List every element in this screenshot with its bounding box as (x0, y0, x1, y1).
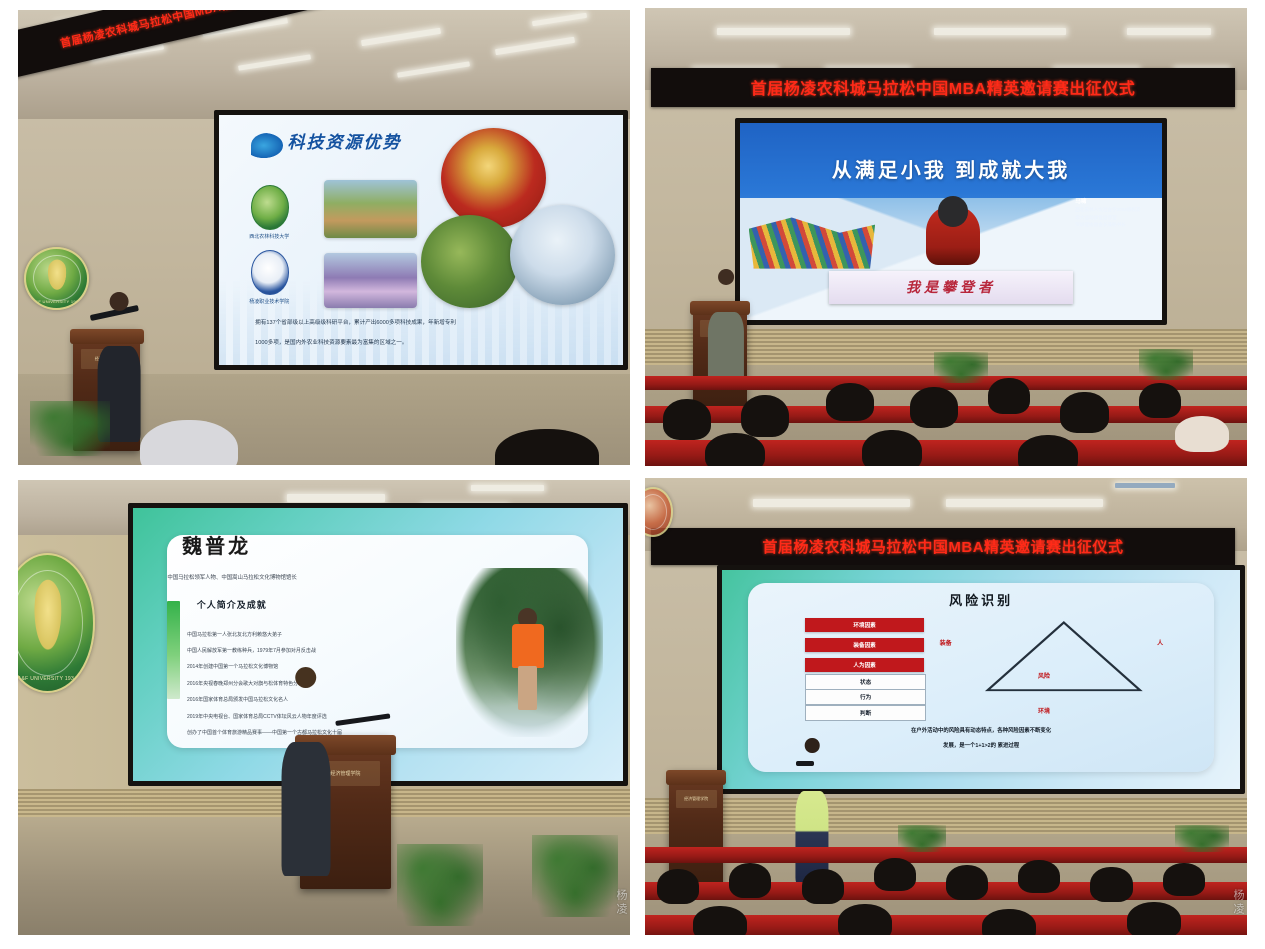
risk-box-equipment: 装备因素 (805, 638, 924, 652)
meeting-photo (441, 128, 546, 228)
scroll-text: 我是攀登者 (906, 277, 996, 297)
bullet-1: 中国人民解放军第一教练种兵，1979年7月参加对月反击战 (187, 647, 316, 654)
logo-label-0: 西北农林科技大学 (239, 233, 300, 240)
podium-plaque-text: 经济管理学院 (330, 770, 360, 777)
credential-line-2: 深圳登协副会长兼秘书长 (1075, 221, 1140, 228)
risk-triangle-diagram (981, 618, 1147, 697)
risk-box-environment: 环境因素 (805, 618, 924, 632)
runner-photo (456, 568, 603, 737)
speaker-credentials: 马啸 西北农林人文社会学2002级校友 华大运动康复运营官 深圳登协副会长兼秘书… (1075, 198, 1140, 228)
slide-footer-line-1: 1000多项，是国内外农业科技资源要素最为富集的区域之一。 (255, 338, 407, 346)
slide-title: 风险识别 (722, 590, 1240, 609)
lab-photo (510, 205, 615, 305)
university-emblem: A&F UNIVERSITY 1934 (24, 247, 89, 310)
nwafu-logo-icon (251, 185, 289, 230)
bullet-2: 2014年创建中国第一个马拉松文化博物馆 (187, 663, 278, 670)
projection-screen[interactable]: 我是攀登者 从满足小我 到成就大我 马啸 西北农林人文社会学2002级校友 华大… (735, 118, 1166, 325)
campus-photo-2 (324, 253, 417, 308)
slide-title: 从满足小我 到成就大我 (740, 154, 1161, 183)
podium-plaque-text: 经济管理学院 (684, 796, 708, 802)
yangling-vtc-logo-icon (251, 250, 289, 295)
credential-line-1: 华大运动康复运营官 (1075, 214, 1140, 221)
risk-box-judgment: 判断 (805, 705, 926, 721)
potted-plant (397, 844, 483, 926)
slide-footer-line-0: 拥有137个省部级以上高级级科研平台，累计产出6000多项科技成果，年新增专利 (255, 318, 456, 326)
campus-photo-1 (324, 180, 417, 238)
event-banner: 首届杨凌农科城马拉松中国MBA精英邀请赛出征仪式 (651, 528, 1235, 565)
photo-bottom-right[interactable]: 首届杨凌农科城马拉松中国MBA精英邀请赛出征仪式 风险识别 环境因素 装备因素 … (645, 478, 1247, 935)
bullet-0: 中国马拉松第一人张北友北方利赖悠大弟子 (187, 631, 282, 638)
speaker-person (281, 667, 330, 876)
risk-box-human: 人为因素 (805, 658, 924, 672)
triangle-label-center: 风险 (1038, 671, 1050, 680)
bullet-4: 2016年国家体育总局颁发中国马拉松文化名人 (187, 696, 288, 703)
triangle-label-right: 人 (1157, 638, 1163, 647)
audience-area (645, 347, 1247, 466)
triangle-label-left: 装备 (940, 638, 952, 647)
photo-collage: 首届杨凌农科城马拉松中国MBA精英邀请赛出征仪式 A&F UNIVERSITY … (0, 0, 1265, 949)
logo-label-1: 杨凌职业技术学院 (239, 298, 300, 305)
projection-screen[interactable]: 科技资源优势 西北农林科技大学 杨凌职业技术学院 拥有137个省部级以上高级级科… (214, 110, 628, 370)
microphone-icon (796, 761, 814, 766)
credential-line-0: 西北农林人文社会学2002级校友 (1075, 206, 1140, 213)
climber-figure (926, 206, 981, 265)
event-banner-text: 首届杨凌农科城马拉松中国MBA精英邀请赛出征仪式 (751, 75, 1135, 99)
risk-box-state: 状态 (805, 674, 926, 690)
slide-climber: 我是攀登者 从满足小我 到成就大我 马啸 西北农林人文社会学2002级校友 华大… (740, 123, 1161, 320)
risk-note-line-0: 在户外活动中的风险具有动态特点，各种风险因素不断变化 (722, 726, 1240, 734)
banner-scroll: 我是攀登者 (829, 271, 1073, 304)
field-photo (421, 215, 518, 308)
event-banner: 首届杨凌农科城马拉松中国MBA精英邀请赛出征仪式 (651, 68, 1235, 107)
slide-logo-icon (251, 133, 283, 158)
emblem-caption: A&F UNIVERSITY 1934 (26, 299, 87, 304)
slide-title: 科技资源优势 (287, 128, 401, 153)
slide-tech-resources: 科技资源优势 西北农林科技大学 杨凌职业技术学院 拥有137个省部级以上高级级科… (219, 115, 623, 365)
potted-plant (30, 401, 110, 456)
accent-bar (167, 601, 180, 699)
slide-person-name: 魏普龙 (182, 530, 251, 559)
speaker-name: 马啸 (1075, 198, 1140, 207)
potted-plant (532, 835, 618, 917)
triangle-label-bottom: 环境 (1038, 706, 1050, 715)
event-banner-text: 首届杨凌农科城马拉松中国MBA精英邀请赛出征仪式 (762, 536, 1123, 557)
slide-section-title: 个人简介及成就 (197, 598, 267, 611)
risk-box-behavior: 行为 (805, 689, 926, 705)
photo-bottom-left[interactable]: A&F UNIVERSITY 1934 魏普龙 中国马拉松领军人物、中国嵩山马拉… (18, 480, 630, 935)
slide-subtitle: 中国马拉松领军人物、中国嵩山马拉松文化博物馆馆长 (167, 573, 296, 581)
photo-top-left[interactable]: 首届杨凌农科城马拉松中国MBA精英邀请赛出征仪式 A&F UNIVERSITY … (18, 10, 630, 465)
emblem-caption: A&F UNIVERSITY 1934 (18, 676, 93, 682)
audience-area (645, 825, 1247, 935)
photo-top-right[interactable]: 首届杨凌农科城马拉松中国MBA精英邀请赛出征仪式 我是攀登者 从满足小我 到成就… (645, 8, 1247, 466)
